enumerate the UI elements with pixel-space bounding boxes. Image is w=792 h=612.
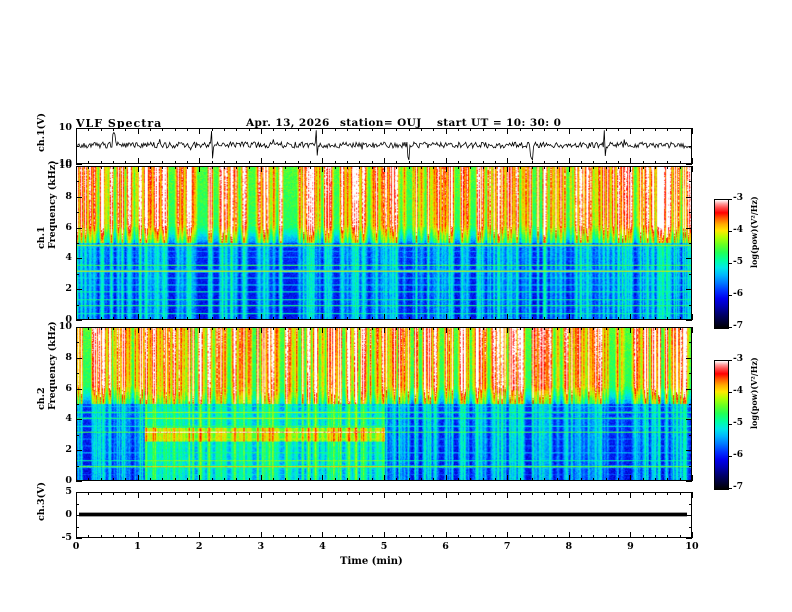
yaxis-tick: [76, 274, 79, 275]
xaxis-tick-minor: [618, 492, 619, 495]
xaxis-tick-minor: [162, 317, 163, 320]
xaxis-tick-minor: [409, 478, 410, 481]
xaxis-tick-minor: [421, 535, 422, 538]
xaxis-tick-label: 5: [370, 541, 398, 552]
xaxis-tick-minor: [335, 128, 336, 131]
xaxis-tick-minor: [495, 478, 496, 481]
xaxis-tick-minor: [483, 161, 484, 164]
xaxis-tick-minor: [446, 532, 447, 538]
xaxis-tick-minor: [249, 327, 250, 330]
xaxis-tick-minor: [458, 492, 459, 495]
xaxis-tick-minor: [125, 492, 126, 495]
xaxis-tick-minor: [187, 327, 188, 330]
yaxis-tick: [686, 258, 692, 259]
ch3-waveform-trace: [77, 493, 691, 537]
xaxis-tick-label: 2: [185, 541, 213, 552]
xaxis-tick-minor: [101, 535, 102, 538]
xaxis-tick-minor: [433, 492, 434, 495]
xaxis-tick-minor: [285, 128, 286, 131]
xaxis-tick-minor: [125, 128, 126, 131]
xaxis-tick-minor: [199, 166, 200, 172]
xaxis-tick-minor: [162, 478, 163, 481]
xaxis-tick-minor: [125, 327, 126, 330]
yaxis-tick: [686, 166, 692, 167]
xaxis-tick-minor: [372, 492, 373, 495]
xaxis-tick-minor: [273, 128, 274, 131]
yaxis-tick: [689, 527, 692, 528]
xaxis-tick-minor: [421, 478, 422, 481]
xaxis-tick-minor: [409, 317, 410, 320]
xaxis-tick-minor: [359, 478, 360, 481]
xaxis-tick-minor: [520, 478, 521, 481]
xaxis-tick-minor: [335, 317, 336, 320]
xaxis-tick-minor: [667, 478, 668, 481]
xaxis-tick-minor: [544, 478, 545, 481]
xaxis-tick-minor: [138, 327, 139, 333]
xaxis-tick-minor: [322, 327, 323, 333]
xaxis-tick-minor: [372, 317, 373, 320]
colorbar-tick-label: -5: [733, 418, 743, 428]
xaxis-tick-minor: [310, 492, 311, 495]
xaxis-tick-minor: [470, 166, 471, 169]
xaxis-tick-minor: [150, 128, 151, 131]
xaxis-tick-minor: [187, 478, 188, 481]
xaxis-tick-minor: [433, 535, 434, 538]
xaxis-tick-minor: [224, 478, 225, 481]
xaxis-tick-minor: [483, 317, 484, 320]
xaxis-tick-minor: [347, 478, 348, 481]
yaxis-tick: [686, 164, 692, 165]
yaxis-tick: [686, 197, 692, 198]
yaxis-tick: [689, 373, 692, 374]
xaxis-tick-label: 1: [124, 541, 152, 552]
xaxis-tick-minor: [113, 317, 114, 320]
xaxis-tick-minor: [593, 317, 594, 320]
xaxis-tick-minor: [630, 128, 631, 134]
xaxis-tick-label: 10: [678, 541, 706, 552]
xaxis-tick-minor: [273, 317, 274, 320]
xaxis-tick-minor: [446, 314, 447, 320]
xaxis-tick-minor: [630, 166, 631, 172]
xaxis-tick-minor: [655, 535, 656, 538]
xaxis-tick-minor: [581, 317, 582, 320]
xaxis-tick-minor: [520, 166, 521, 169]
ch1-wave-axis-label: ch.1(V): [36, 113, 47, 152]
xaxis-tick-minor: [236, 327, 237, 330]
xaxis-tick-minor: [261, 128, 262, 134]
xaxis-tick-minor: [224, 535, 225, 538]
xaxis-tick-minor: [618, 535, 619, 538]
xaxis-tick-minor: [101, 161, 102, 164]
xaxis-tick-minor: [630, 492, 631, 498]
yaxis-tick: [689, 243, 692, 244]
yaxis-tick: [76, 404, 79, 405]
xaxis-tick-minor: [298, 161, 299, 164]
xaxis-tick-minor: [101, 317, 102, 320]
xaxis-tick-minor: [680, 478, 681, 481]
xaxis-tick-minor: [618, 166, 619, 169]
yaxis-tick: [76, 481, 82, 482]
xaxis-tick-minor: [458, 128, 459, 131]
yaxis-tick: [76, 492, 82, 493]
yaxis-tick: [686, 128, 692, 129]
xaxis-tick-minor: [520, 161, 521, 164]
xaxis-tick-label: 9: [616, 541, 644, 552]
xaxis-tick-minor: [655, 317, 656, 320]
xaxis-tick-minor: [569, 158, 570, 164]
xaxis-tick-minor: [310, 128, 311, 131]
xaxis-tick-minor: [544, 161, 545, 164]
xaxis-tick-minor: [655, 166, 656, 169]
xaxis-tick-minor: [507, 166, 508, 172]
xaxis-tick-minor: [187, 161, 188, 164]
xaxis-tick-label: 6: [432, 541, 460, 552]
xaxis-tick-minor: [359, 327, 360, 330]
xaxis-tick-minor: [593, 327, 594, 330]
xaxis-tick-minor: [470, 492, 471, 495]
xaxis-tick-minor: [88, 166, 89, 169]
xaxis-tick-minor: [273, 478, 274, 481]
xaxis-tick-minor: [199, 314, 200, 320]
xaxis-tick-minor: [88, 492, 89, 495]
yaxis-tick: [76, 327, 82, 328]
colorbar-tick: [728, 360, 732, 361]
xaxis-tick-label: 4: [308, 541, 336, 552]
xaxis-tick-minor: [359, 128, 360, 131]
xaxis-tick-minor: [421, 317, 422, 320]
xaxis-tick-minor: [322, 314, 323, 320]
xaxis-tick-minor: [532, 317, 533, 320]
yaxis-tick: [76, 515, 82, 516]
xaxis-tick-minor: [421, 492, 422, 495]
xaxis-tick-minor: [544, 128, 545, 131]
xaxis-tick-minor: [507, 128, 508, 134]
xaxis-tick-minor: [593, 535, 594, 538]
xaxis-tick-minor: [298, 317, 299, 320]
panel-ch1-spectrogram: [76, 166, 692, 320]
xaxis-tick-minor: [285, 161, 286, 164]
xaxis-tick-minor: [175, 327, 176, 330]
xaxis-tick-minor: [483, 128, 484, 131]
yaxis-tick: [76, 358, 82, 359]
xaxis-tick-minor: [667, 166, 668, 169]
xaxis-tick-minor: [150, 492, 151, 495]
xaxis-tick-label: 8: [555, 541, 583, 552]
xaxis-tick-minor: [298, 166, 299, 169]
xaxis-tick-minor: [544, 535, 545, 538]
xaxis-tick-minor: [581, 535, 582, 538]
yaxis-tick: [689, 466, 692, 467]
xaxis-tick-minor: [606, 535, 607, 538]
yaxis-tick: [76, 527, 79, 528]
xaxis-tick-minor: [212, 327, 213, 330]
ch1-spec-axis-label: ch.1: [36, 226, 47, 249]
xaxis-tick-minor: [285, 327, 286, 330]
yaxis-tick: [686, 481, 692, 482]
xaxis-tick-minor: [175, 317, 176, 320]
xaxis-tick-minor: [557, 478, 558, 481]
xaxis-tick-minor: [655, 128, 656, 131]
colorbar-tick: [728, 488, 732, 489]
xaxis-tick-minor: [138, 532, 139, 538]
xaxis-tick-minor: [680, 492, 681, 495]
xaxis-tick-minor: [606, 492, 607, 495]
xaxis-tick-minor: [606, 161, 607, 164]
xaxis-tick-minor: [322, 128, 323, 134]
xaxis-tick-minor: [643, 535, 644, 538]
xaxis-tick-minor: [150, 166, 151, 169]
xaxis-tick-minor: [532, 128, 533, 131]
xaxis-tick-minor: [212, 166, 213, 169]
xaxis-tick-minor: [113, 166, 114, 169]
xaxis-tick-minor: [421, 161, 422, 164]
xaxis-tick-minor: [667, 492, 668, 495]
colorbar-tick: [728, 231, 732, 232]
yaxis-tick: [76, 466, 79, 467]
xaxis-tick-minor: [150, 478, 151, 481]
xaxis-tick-minor: [384, 492, 385, 498]
xaxis-tick-minor: [322, 532, 323, 538]
xaxis-tick-minor: [347, 492, 348, 495]
xaxis-tick-minor: [433, 327, 434, 330]
yaxis-tick: [689, 404, 692, 405]
xaxis-tick-minor: [643, 327, 644, 330]
xaxis-tick-minor: [359, 492, 360, 495]
xaxis-tick-minor: [458, 166, 459, 169]
ch1-spectrogram-image: [77, 167, 691, 319]
xaxis-tick-minor: [569, 166, 570, 172]
xaxis-tick-minor: [285, 492, 286, 495]
xaxis-tick-minor: [384, 166, 385, 172]
yaxis-tick: [76, 166, 82, 167]
yaxis-tick: [76, 373, 79, 374]
xaxis-tick-minor: [532, 161, 533, 164]
xaxis-tick-minor: [557, 535, 558, 538]
xaxis-tick-minor: [187, 166, 188, 169]
xaxis-tick-minor: [113, 327, 114, 330]
xaxis-tick-minor: [212, 535, 213, 538]
xaxis-tick-minor: [655, 478, 656, 481]
xaxis-tick-minor: [606, 166, 607, 169]
colorbar-ch2: [714, 360, 729, 490]
xaxis-tick-minor: [224, 317, 225, 320]
colorbar-ch2-gradient: [715, 361, 728, 489]
xaxis-tick-minor: [495, 327, 496, 330]
xaxis-tick-minor: [384, 475, 385, 481]
xaxis-tick-minor: [396, 166, 397, 169]
yaxis-tick: [76, 320, 82, 321]
colorbar-tick-label: -4: [733, 386, 743, 396]
xaxis-tick-minor: [643, 166, 644, 169]
xaxis-tick-minor: [569, 128, 570, 134]
xaxis-tick-minor: [199, 128, 200, 134]
yaxis-tick: [686, 327, 692, 328]
xaxis-tick-minor: [310, 478, 311, 481]
xaxis-tick-minor: [236, 317, 237, 320]
xaxis-tick-minor: [692, 327, 693, 333]
xaxis-tick-minor: [285, 166, 286, 169]
colorbar-tick: [728, 392, 732, 393]
yaxis-tick: [686, 450, 692, 451]
xaxis-tick-minor: [125, 161, 126, 164]
ch2-spec-axis-unit: Frequency (kHz): [47, 321, 58, 410]
xaxis-tick-minor: [138, 492, 139, 498]
xaxis-tick-minor: [101, 327, 102, 330]
xaxis-tick-minor: [138, 314, 139, 320]
xaxis-tick-minor: [667, 317, 668, 320]
xaxis-tick-minor: [335, 327, 336, 330]
yaxis-tick: [689, 274, 692, 275]
xaxis-tick-minor: [162, 128, 163, 131]
xaxis-tick-minor: [692, 128, 693, 134]
xaxis-tick-minor: [446, 128, 447, 134]
yaxis-tick: [689, 342, 692, 343]
yaxis-tick: [76, 389, 82, 390]
xaxis-tick-minor: [310, 317, 311, 320]
xaxis-tick-minor: [310, 166, 311, 169]
xaxis-tick-minor: [199, 475, 200, 481]
xaxis-tick-minor: [187, 317, 188, 320]
yaxis-tick: [689, 146, 692, 147]
xaxis-tick-minor: [162, 535, 163, 538]
xaxis-tick-label: 7: [493, 541, 521, 552]
xaxis-tick-minor: [593, 128, 594, 131]
xaxis-tick-minor: [507, 314, 508, 320]
colorbar-tick: [728, 295, 732, 296]
xaxis-tick-minor: [692, 314, 693, 320]
colorbar-tick-label: -7: [733, 321, 743, 331]
xaxis-tick-minor: [680, 128, 681, 131]
xaxis-tick-minor: [483, 535, 484, 538]
xaxis-tick-minor: [630, 532, 631, 538]
xaxis-tick-minor: [310, 327, 311, 330]
xaxis-tick-minor: [359, 535, 360, 538]
ch1-spec-axis-unit: Frequency (kHz): [47, 160, 58, 249]
xaxis-tick-minor: [655, 492, 656, 495]
ch2-spectrogram-image: [77, 328, 691, 480]
colorbar-tick-label: -3: [733, 193, 743, 203]
xaxis-tick-minor: [483, 327, 484, 330]
xaxis-tick-minor: [150, 327, 151, 330]
ch3-wave-axis-label: ch.3(V): [36, 482, 47, 521]
xaxis-tick-minor: [298, 327, 299, 330]
xaxis-tick-minor: [643, 317, 644, 320]
xaxis-tick-minor: [520, 317, 521, 320]
xaxis-tick-minor: [532, 535, 533, 538]
xaxis-tick-minor: [495, 492, 496, 495]
xaxis-tick-minor: [236, 535, 237, 538]
xaxis-tick-minor: [557, 166, 558, 169]
xaxis-tick-minor: [581, 478, 582, 481]
xaxis-tick-minor: [507, 492, 508, 498]
xaxis-tick-minor: [396, 317, 397, 320]
xaxis-tick-minor: [101, 128, 102, 131]
xaxis-tick-minor: [495, 128, 496, 131]
xaxis-tick-minor: [692, 475, 693, 481]
xaxis-tick-minor: [249, 128, 250, 131]
xaxis-tick-minor: [261, 492, 262, 498]
xaxis-tick-minor: [175, 492, 176, 495]
xaxis-tick-minor: [88, 535, 89, 538]
xaxis-tick-minor: [298, 478, 299, 481]
xaxis-tick-minor: [261, 166, 262, 172]
xaxis-tick-minor: [113, 478, 114, 481]
xaxis-tick-minor: [483, 492, 484, 495]
yaxis-tick-label: 2: [42, 444, 72, 455]
yaxis-tick: [686, 289, 692, 290]
yaxis-tick: [76, 289, 82, 290]
yaxis-tick: [689, 305, 692, 306]
yaxis-tick: [76, 419, 82, 420]
xaxis-tick-minor: [322, 492, 323, 498]
xaxis-tick-minor: [446, 166, 447, 172]
colorbar-tick: [728, 327, 732, 328]
xaxis-tick-minor: [347, 535, 348, 538]
xaxis-tick-minor: [409, 492, 410, 495]
yaxis-tick: [76, 504, 79, 505]
yaxis-tick: [689, 181, 692, 182]
yaxis-tick: [76, 538, 82, 539]
xaxis-tick-minor: [249, 535, 250, 538]
xaxis-tick-minor: [138, 128, 139, 134]
xaxis-tick-minor: [421, 327, 422, 330]
xaxis-tick-minor: [618, 128, 619, 131]
xaxis-tick-minor: [138, 166, 139, 172]
xaxis-tick-minor: [212, 161, 213, 164]
xaxis-tick-minor: [396, 327, 397, 330]
xaxis-tick-minor: [495, 535, 496, 538]
xaxis-tick-minor: [224, 492, 225, 495]
colorbar-tick: [728, 199, 732, 200]
xaxis-tick-minor: [372, 327, 373, 330]
xaxis-tick-minor: [322, 475, 323, 481]
xaxis-tick-minor: [285, 535, 286, 538]
xaxis-tick-minor: [433, 317, 434, 320]
yaxis-tick-label: 4: [42, 252, 72, 263]
xaxis-tick-minor: [224, 128, 225, 131]
xaxis-tick-minor: [236, 478, 237, 481]
xaxis-tick-minor: [125, 166, 126, 169]
xaxis-tick-minor: [630, 475, 631, 481]
xaxis-tick-minor: [372, 128, 373, 131]
xaxis-tick-minor: [507, 327, 508, 333]
xaxis-tick-minor: [692, 166, 693, 172]
xaxis-tick-minor: [273, 492, 274, 495]
xaxis-tick-minor: [125, 478, 126, 481]
xaxis-tick-minor: [667, 161, 668, 164]
xaxis-tick-minor: [372, 535, 373, 538]
xaxis-tick-minor: [88, 161, 89, 164]
xaxis-tick-minor: [569, 475, 570, 481]
xaxis-tick-minor: [507, 475, 508, 481]
yaxis-tick: [76, 212, 79, 213]
xaxis-tick-minor: [593, 478, 594, 481]
xaxis-tick-minor: [310, 535, 311, 538]
xaxis-tick-minor: [409, 166, 410, 169]
xaxis-tick-minor: [446, 158, 447, 164]
xaxis-tick-minor: [224, 161, 225, 164]
xaxis-tick-minor: [680, 166, 681, 169]
yaxis-tick: [76, 243, 79, 244]
xaxis-tick-minor: [421, 128, 422, 131]
xaxis-tick-minor: [544, 327, 545, 330]
xaxis-tick-minor: [138, 475, 139, 481]
xaxis-tick-minor: [409, 128, 410, 131]
xaxis-tick-minor: [495, 161, 496, 164]
xaxis-tick-minor: [433, 166, 434, 169]
xaxis-tick-minor: [667, 128, 668, 131]
xaxis-tick-minor: [692, 492, 693, 498]
